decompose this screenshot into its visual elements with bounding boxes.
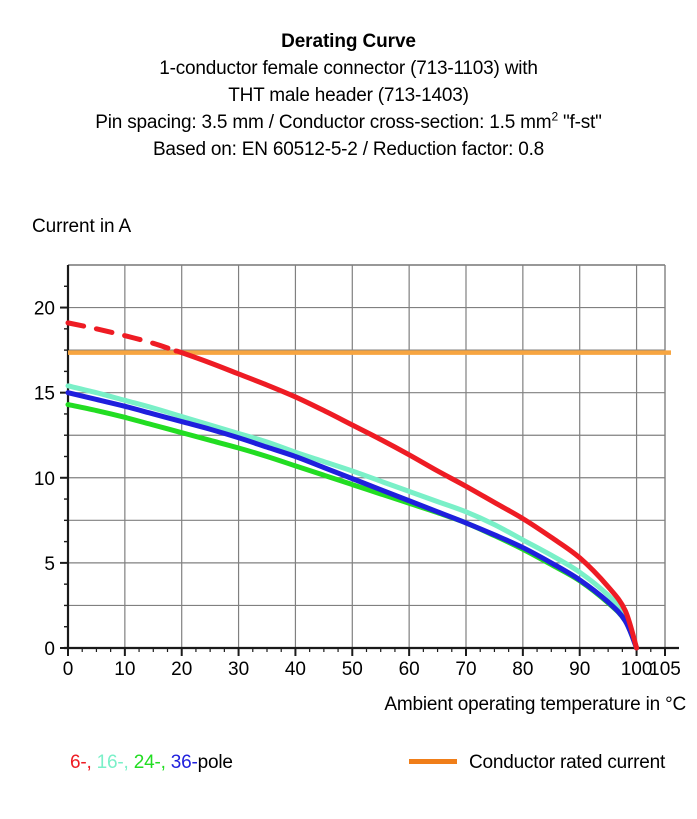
y-tick-label: 10 xyxy=(34,469,55,490)
legend-pole-suffix: pole xyxy=(198,752,233,773)
y-tick-label: 20 xyxy=(34,299,55,320)
x-tick-label: 10 xyxy=(114,659,135,680)
x-tick-label: 70 xyxy=(455,659,476,680)
x-tick-label: 30 xyxy=(228,659,249,680)
legend-pole-24: 24- xyxy=(134,752,161,773)
y-tick-label: 15 xyxy=(34,384,55,405)
legend-separator: , xyxy=(87,752,97,773)
x-tick-label: 105 xyxy=(649,659,681,680)
x-tick-label: 100 xyxy=(621,659,653,680)
legend-pole-6: 6- xyxy=(70,752,87,773)
x-tick-label: 40 xyxy=(285,659,306,680)
legend-pole-16: 16- xyxy=(97,752,124,773)
y-tick-label: 0 xyxy=(44,639,55,660)
legend-pole-36: 36- xyxy=(171,752,198,773)
x-axis-label: Ambient operating temperature in °C xyxy=(0,694,686,716)
legend-separator: , xyxy=(124,752,134,773)
x-tick-label: 50 xyxy=(342,659,363,680)
derating-curve-figure: Derating Curve 1-conductor female connec… xyxy=(0,0,697,819)
rated-current-label: Conductor rated current xyxy=(469,752,665,773)
x-tick-label: 90 xyxy=(569,659,590,680)
legend: 6-, 16-, 24-, 36-pole Conductor rated cu… xyxy=(0,752,697,788)
x-tick-label: 0 xyxy=(63,659,74,680)
x-tick-label: 60 xyxy=(399,659,420,680)
rated-current-swatch xyxy=(409,759,457,764)
y-tick-label: 5 xyxy=(44,554,55,575)
legend-separator: , xyxy=(161,752,171,773)
legend-rated-current: Conductor rated current xyxy=(409,752,665,774)
x-tick-label: 20 xyxy=(171,659,192,680)
series-line-6-pole-dashed xyxy=(68,323,176,351)
plot-area: 051015200102030405060708090100105 xyxy=(0,0,697,700)
legend-poles: 6-, 16-, 24-, 36-pole xyxy=(70,752,233,774)
x-tick-label: 80 xyxy=(512,659,533,680)
